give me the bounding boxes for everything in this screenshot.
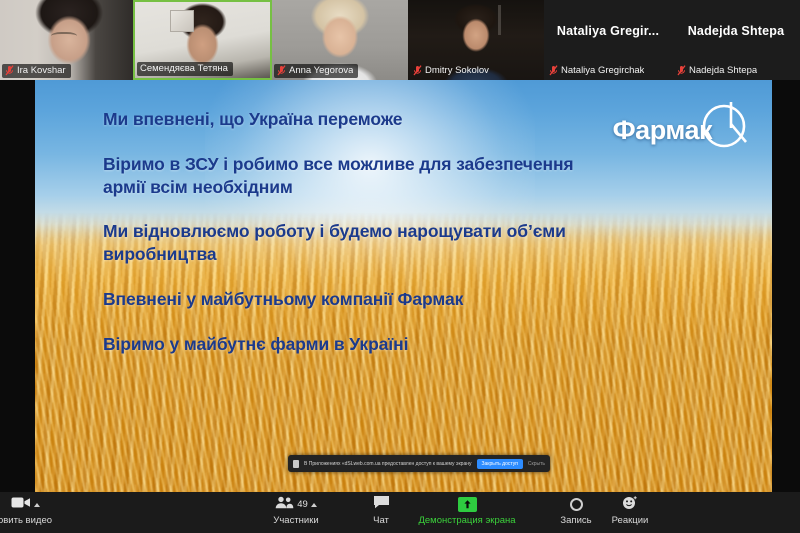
mic-muted-icon bbox=[5, 65, 14, 76]
zoom-meeting-window: Ira Kovshar Семендяєва Тетяна Anna Yegor… bbox=[0, 0, 800, 533]
chevron-up-icon[interactable] bbox=[34, 503, 40, 507]
participant-tile-anna-yegorova[interactable]: Anna Yegorova bbox=[272, 0, 408, 80]
meeting-toolbar: овить видео 49 Участники Чат bbox=[0, 492, 800, 533]
mic-muted-icon bbox=[549, 65, 558, 76]
slide-line: Впевнені у майбутньому компанії Фармак bbox=[103, 288, 603, 311]
share-notification-message: В Приложениях «dSLweb.com.ua предоставле… bbox=[304, 461, 472, 467]
slide-line: Ми впевнені, що Україна переможе bbox=[103, 108, 603, 131]
participant-tile-nadejda-shtepa[interactable]: Nadejda Shtepa Nadejda Shtepa bbox=[672, 0, 800, 80]
participant-name: Anna Yegorova bbox=[289, 65, 353, 76]
mic-muted-icon bbox=[413, 65, 422, 76]
people-icon[interactable] bbox=[275, 496, 294, 514]
participant-name-badge: Nadejda Shtepa bbox=[674, 64, 762, 78]
shared-screen-slide[interactable]: Ми впевнені, що Україна переможе Віримо … bbox=[35, 80, 772, 492]
slide-text-block: Ми впевнені, що Україна переможе Віримо … bbox=[103, 108, 603, 355]
toolbar-share-screen-label: Демонстрация экрана bbox=[418, 515, 515, 526]
share-screen-icon[interactable] bbox=[458, 497, 477, 512]
stop-share-button[interactable]: Закрыть доступ bbox=[477, 459, 523, 469]
participant-name: Ira Kovshar bbox=[17, 65, 66, 76]
participant-name: Nadejda Shtepa bbox=[689, 65, 757, 76]
toolbar-video-button[interactable]: овить видео bbox=[0, 495, 68, 533]
toolbar-video-label: овить видео bbox=[0, 515, 52, 526]
mic-muted-icon bbox=[677, 65, 686, 76]
screen-share-indicator-icon bbox=[293, 460, 299, 468]
toolbar-participants-label: Участники bbox=[273, 515, 318, 526]
participant-tile-semendyaeva-tetyana[interactable]: Семендяєва Тетяна bbox=[133, 0, 272, 80]
toolbar-chat-label: Чат bbox=[373, 515, 389, 526]
chat-bubble-icon[interactable] bbox=[373, 495, 390, 514]
farmak-logo: Фармак bbox=[613, 106, 750, 155]
slide-line: Віримо в ЗСУ і робимо все можливе для за… bbox=[103, 153, 603, 199]
toolbar-reactions-button[interactable]: Реакции bbox=[587, 495, 673, 533]
participant-name: Dmitry Sokolov bbox=[425, 65, 489, 76]
participant-filmstrip: Ira Kovshar Семендяєва Тетяна Anna Yegor… bbox=[0, 0, 800, 80]
participant-display-name: Nataliya Gregir... bbox=[544, 24, 672, 38]
toolbar-reactions-label: Реакции bbox=[612, 515, 649, 526]
smiley-icon[interactable] bbox=[622, 495, 638, 515]
participant-display-name: Nadejda Shtepa bbox=[672, 24, 800, 38]
participant-tile-nataliya-gregirchak[interactable]: Nataliya Gregir... Nataliya Gregirchak bbox=[544, 0, 672, 80]
participant-name-badge: Nataliya Gregirchak bbox=[546, 64, 649, 78]
chevron-up-icon[interactable] bbox=[311, 503, 317, 507]
participant-name-badge: Dmitry Sokolov bbox=[410, 64, 494, 78]
participant-name: Семендяєва Тетяна bbox=[140, 63, 228, 74]
participant-name-badge: Anna Yegorova bbox=[274, 64, 358, 78]
hide-notification-link[interactable]: Скрыть bbox=[528, 461, 545, 467]
mic-muted-icon bbox=[277, 65, 286, 76]
participant-name-badge: Семендяєва Тетяна bbox=[137, 62, 233, 76]
slide-line: Ми відновлюємо роботу і будемо нарощуват… bbox=[103, 220, 603, 266]
participants-count: 49 bbox=[297, 499, 308, 510]
participant-name-badge: Ira Kovshar bbox=[2, 64, 71, 78]
participant-name: Nataliya Gregirchak bbox=[561, 65, 644, 76]
participant-tile-ira-kovshar[interactable]: Ira Kovshar bbox=[0, 0, 133, 80]
participant-tile-dmitry-sokolov[interactable]: Dmitry Sokolov bbox=[408, 0, 544, 80]
farmak-logo-mark-icon bbox=[698, 98, 750, 155]
record-circle-icon[interactable] bbox=[570, 498, 583, 511]
toolbar-chat-button[interactable]: Чат bbox=[338, 495, 424, 533]
slide-line: Віримо у майбутнє фарми в Україні bbox=[103, 333, 603, 356]
toolbar-participants-button[interactable]: 49 Участники bbox=[253, 495, 339, 533]
screen-share-notification: В Приложениях «dSLweb.com.ua предоставле… bbox=[288, 455, 550, 472]
camera-icon[interactable] bbox=[11, 496, 31, 514]
toolbar-share-screen-button[interactable]: Демонстрация экрана bbox=[424, 495, 510, 533]
